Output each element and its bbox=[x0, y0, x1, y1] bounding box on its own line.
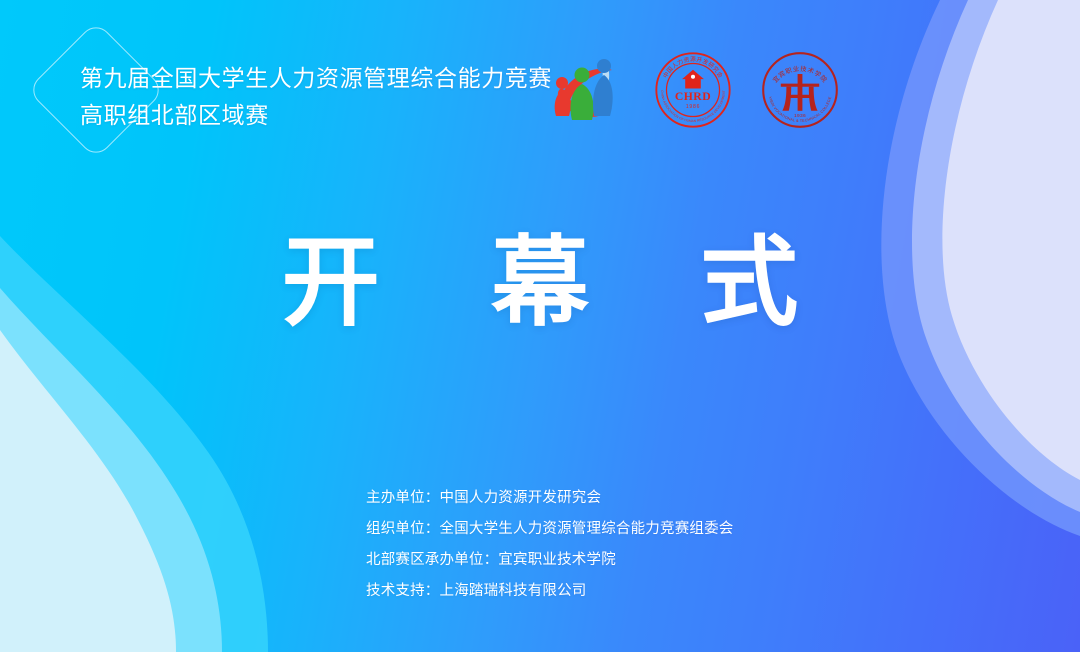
credit-line-host: 北部赛区承办单位：宜宾职业技术学院 bbox=[366, 549, 734, 571]
page-title: 开 幕 式 bbox=[0, 224, 1080, 340]
logo-group: CHRD 1986 中国人力资源开发研究会 CHINA ASSOCIATION … bbox=[542, 44, 840, 136]
chrd-year: 1986 bbox=[686, 104, 700, 110]
credit-line-tech-support: 技术支持：上海踏瑞科技有限公司 bbox=[366, 580, 734, 602]
credit-line-committee: 组织单位：全国大学生人力资源管理综合能力竞赛组委会 bbox=[366, 518, 734, 540]
competition-title: 第九届全国大学生人力资源管理综合能力竞赛 高职组北部区域赛 bbox=[80, 63, 552, 130]
chrd-seal-logo: CHRD 1986 中国人力资源开发研究会 CHINA ASSOCIATION … bbox=[654, 51, 732, 129]
chrd-acronym: CHRD bbox=[675, 90, 711, 103]
credit-line-organizer: 主办单位：中国人力资源开发研究会 bbox=[366, 487, 734, 509]
gate-crossbar bbox=[790, 95, 809, 98]
blue-figure-body bbox=[593, 75, 613, 116]
red-figure-head bbox=[556, 77, 568, 89]
gate-right-pillar bbox=[809, 87, 818, 111]
competition-figures-logo bbox=[542, 48, 626, 132]
title-line-1: 第九届全国大学生人力资源管理综合能力竞赛 bbox=[80, 63, 552, 93]
gate-left-pillar bbox=[782, 87, 791, 111]
college-year: 1936 bbox=[794, 113, 806, 119]
yibin-college-seal-logo: 1936 宜宾职业技术学院 YIBIN VOCATIONAL & TECHNIC… bbox=[760, 50, 840, 130]
green-figure-head bbox=[575, 68, 590, 83]
title-line-2: 高职组北部区域赛 bbox=[80, 100, 552, 130]
credits-block: 主办单位：中国人力资源开发研究会 组织单位：全国大学生人力资源管理综合能力竞赛组… bbox=[366, 487, 734, 602]
house-emblem bbox=[682, 70, 704, 89]
house-emblem-dot bbox=[691, 75, 695, 79]
slide-header: 第九届全国大学生人力资源管理综合能力竞赛 高职组北部区域赛 bbox=[0, 0, 1080, 170]
gate-center-post bbox=[798, 74, 803, 111]
left-curve-inner bbox=[0, 330, 176, 652]
blue-figure-head bbox=[597, 59, 611, 73]
left-curve-mid bbox=[0, 288, 222, 652]
opening-ceremony-slide: 第九届全国大学生人力资源管理综合能力竞赛 高职组北部区域赛 bbox=[0, 0, 1080, 652]
